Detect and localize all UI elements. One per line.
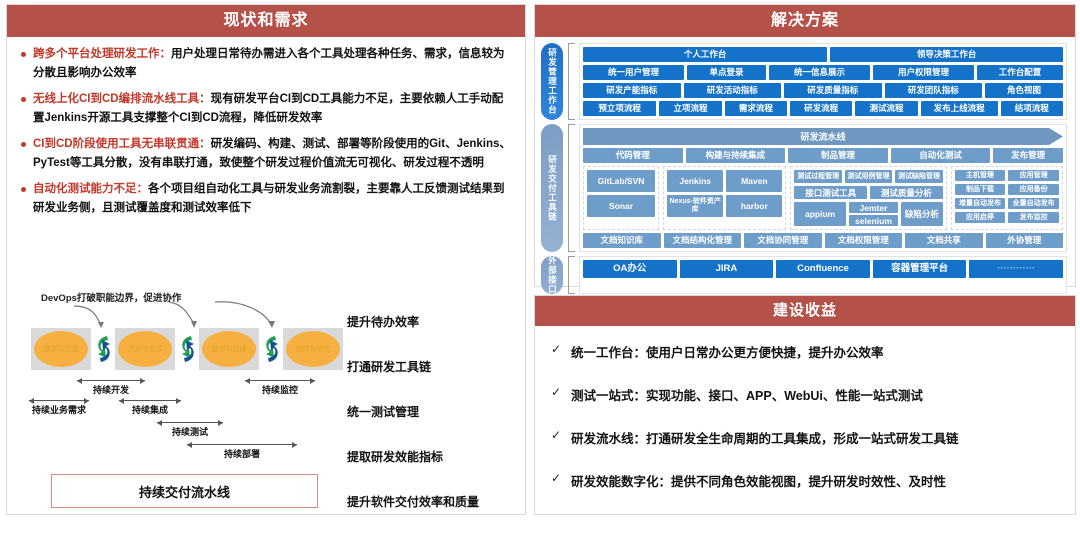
benefit-text: 统一工作台：使用户日常办公更方便快捷，提升办公效率	[571, 346, 884, 360]
tool-column-code: GitLab/SVN Sonar	[583, 166, 659, 230]
cell-item[interactable]: 需求流程	[725, 101, 787, 116]
cell-item[interactable]: 研发团队指标	[885, 83, 983, 98]
tool-test-defect-mgmt[interactable]: 测试缺陷管理	[895, 170, 942, 183]
tool-row: 增量自动发布 全量自动发布	[955, 198, 1059, 209]
list-item: ✓ 统一工作台：使用户日常办公更方便快捷，提升办公效率	[549, 342, 1061, 361]
tool-row: Nexus-软件资产库 harbor	[667, 195, 782, 217]
tool-app-backup[interactable]: 应用备份	[1008, 184, 1059, 195]
cell-item[interactable]: 发布上线流程	[921, 101, 998, 116]
solution-panel: 解决方案 研发管理工作台 个人工作台 领导决策工作台 统一用户管理 单点登录 统…	[534, 4, 1076, 287]
tool-column-test: 测试过程管理 测试用例管理 测试缺陷管理 接口测试工具 测试质量分析 appiu…	[790, 166, 946, 230]
pipeline-arrow-band: 研发流水线	[583, 128, 1063, 145]
lane-tag-label: 研发交付工具链	[541, 124, 563, 252]
external-more[interactable]: ············	[969, 260, 1063, 278]
tool-jemter[interactable]: Jemter	[849, 202, 898, 213]
bullet-highlight: 无线上化CI到CD编排流水线工具：	[33, 93, 211, 105]
tool-row: appium Jemter selenium 缺陷分析	[794, 202, 942, 226]
tool-appium[interactable]: appium	[794, 202, 845, 226]
tool-column-build: Jenkins Maven Nexus-软件资产库 harbor	[663, 166, 786, 230]
phase-cell[interactable]: 构建与持续集成	[686, 148, 786, 163]
tool-nexus[interactable]: Nexus-软件资产库	[667, 195, 723, 217]
sync-swirl-icon	[93, 334, 115, 364]
lane-bracket	[568, 124, 575, 252]
bar-arrow-line	[187, 444, 297, 445]
tool-row: 制品下载 应用备份	[955, 184, 1059, 195]
stage-label: 需求与原度	[34, 331, 88, 367]
bar-label: 持续测试	[157, 425, 223, 438]
lane-workbench: 研发管理工作台 个人工作台 领导决策工作台 统一用户管理 单点登录 统一信息展示…	[541, 43, 1067, 120]
check-icon: ✓	[551, 342, 561, 356]
cell-item[interactable]: 工作台配置	[977, 65, 1063, 80]
tool-app-mgmt[interactable]: 应用管理	[1008, 170, 1059, 181]
cell-personal-workbench[interactable]: 个人工作台	[583, 47, 827, 62]
doc-cell[interactable]: 外协管理	[986, 233, 1064, 248]
phase-cell[interactable]: 自动化测试	[891, 148, 991, 163]
pipeline-label-box: 持续交付流水线	[51, 474, 318, 508]
bullet-highlight: 跨多个平台处理研发工作：	[33, 48, 171, 60]
tool-row: 应用启停 发布监控	[955, 212, 1059, 223]
phase-cell[interactable]: 代码管理	[583, 148, 683, 163]
list-item: CI到CD阶段使用工具无串联贯通：研发编码、构建、测试、部署等阶段使用的Git、…	[19, 135, 513, 173]
external-confluence[interactable]: Confluence	[776, 260, 870, 278]
doc-cell[interactable]: 文档共享	[905, 233, 983, 248]
list-item: 打通研发工具链	[347, 358, 527, 375]
stage-label: 监控与优化	[286, 331, 340, 367]
current-status-panel: 现状和需求 跨多个平台处理研发工作：用户处理日常待办需进入各个工具处理各种任务、…	[6, 4, 526, 515]
tool-gitlab-svn[interactable]: GitLab/SVN	[587, 170, 655, 192]
tool-subcolumn: Jemter selenium	[849, 202, 898, 226]
tool-selenium[interactable]: selenium	[849, 215, 898, 226]
stage-box: 监控与优化	[283, 328, 343, 370]
bar-label: 持续开发	[77, 383, 145, 396]
external-container-platform[interactable]: 容器管理平台	[873, 260, 967, 278]
doc-cell[interactable]: 文档权限管理	[825, 233, 903, 248]
bar-arrow-line	[77, 380, 145, 381]
cell-item[interactable]: 研发产能指标	[583, 83, 681, 98]
sync-swirl-icon	[177, 334, 199, 364]
tool-api-test[interactable]: 接口测试工具	[794, 186, 867, 199]
cell-item[interactable]: 研发流程	[790, 101, 852, 116]
tool-test-quality-analysis[interactable]: 测试质量分析	[870, 186, 943, 199]
lane-external: 外部接口 OA办公 JIRA Confluence 容器管理平台 ·······…	[541, 256, 1067, 294]
tool-sonar[interactable]: Sonar	[587, 195, 655, 217]
flow-bar: 持续部署	[187, 440, 297, 462]
tool-row: Jenkins Maven	[667, 170, 782, 192]
bar-arrow-line	[119, 400, 181, 401]
tool-full-auto-release[interactable]: 全量自动发布	[1008, 198, 1059, 209]
bullet-dot-icon	[21, 52, 26, 57]
list-item: ✓ 研发效能数字化：提供不同角色效能视图，提升研发时效性、及时性	[549, 471, 1061, 490]
cell-item[interactable]: 角色视图	[985, 83, 1063, 98]
bar-arrow-line	[157, 422, 223, 423]
flow-bar: 持续开发	[77, 376, 145, 398]
bar-label: 持续集成	[119, 403, 181, 416]
doc-cell[interactable]: 文档结构化管理	[664, 233, 742, 248]
lane-toolchain: 研发交付工具链 研发流水线 代码管理 构建与持续集成 制品管理 自动化测试 发布…	[541, 124, 1067, 252]
table-row: 代码管理 构建与持续集成 制品管理 自动化测试 发布管理	[583, 148, 1063, 163]
cell-leader-workbench[interactable]: 领导决策工作台	[830, 47, 1063, 62]
lane-tag-label: 研发管理工作台	[541, 43, 563, 120]
tool-test-process-mgmt[interactable]: 测试过程管理	[794, 170, 841, 183]
stage-box: 发布与运维	[199, 328, 259, 370]
benefits-list: ✓ 统一工作台：使用户日常办公更方便快捷，提升办公效率 ✓ 测试一站式：实现功能…	[535, 326, 1075, 490]
list-item: 自动化测试能力不足：各个项目组自动化工具与研发业务流割裂，主要靠人工反馈测试结果…	[19, 180, 513, 218]
tool-maven[interactable]: Maven	[726, 170, 782, 192]
list-item: 提取研发效能指标	[347, 448, 527, 465]
left-panel-title: 现状和需求	[7, 5, 525, 37]
cell-item[interactable]: 统一用户管理	[583, 65, 684, 80]
bar-arrow-line	[29, 400, 89, 401]
bullet-list: 跨多个平台处理研发工作：用户处理日常待办需进入各个工具处理各种任务、需求，信息较…	[7, 37, 525, 218]
flow-bar: 持续集成	[119, 396, 181, 418]
cell-item[interactable]: 立项流程	[659, 101, 721, 116]
lane-tag-label: 外部接口	[541, 256, 563, 294]
cell-item[interactable]: 测试流程	[855, 101, 917, 116]
tool-test-case-mgmt[interactable]: 测试用例管理	[845, 170, 892, 183]
solution-architecture-diagram: 研发管理工作台 个人工作台 领导决策工作台 统一用户管理 单点登录 统一信息展示…	[535, 37, 1075, 280]
stage-box: 开发与测试	[115, 328, 175, 370]
phase-cell[interactable]: 制品管理	[788, 148, 888, 163]
list-item: ✓ 研发流水线：打通研发全生命周期的工具集成，形成一站式研发工具链	[549, 428, 1061, 447]
tool-incremental-auto-release[interactable]: 增量自动发布	[955, 198, 1006, 209]
cell-item[interactable]: 用户权限管理	[873, 65, 974, 80]
list-item: 跨多个平台处理研发工作：用户处理日常待办需进入各个工具处理各种任务、需求，信息较…	[19, 45, 513, 83]
cell-item[interactable]: 预立项流程	[583, 101, 656, 116]
tool-app-start-stop[interactable]: 应用启停	[955, 212, 1006, 223]
tool-defect-analysis[interactable]: 缺陷分析	[901, 202, 943, 226]
bullet-highlight: CI到CD阶段使用工具无串联贯通：	[33, 138, 211, 150]
solution-panel-title: 解决方案	[535, 5, 1075, 37]
benefit-text: 研发效能数字化：提供不同角色效能视图，提升研发时效性、及时性	[571, 475, 946, 489]
list-item: 统一测试管理	[347, 403, 527, 420]
lane-content: 研发流水线 代码管理 构建与持续集成 制品管理 自动化测试 发布管理 GitLa…	[579, 124, 1067, 252]
table-row: 文档知识库 文档结构化管理 文档协同管理 文档权限管理 文档共享 外协管理	[583, 233, 1063, 248]
tool-grid: GitLab/SVN Sonar Jenkins Maven Nexus-软件资…	[583, 166, 1063, 230]
lane-bracket	[568, 43, 575, 120]
stage-label: 发布与运维	[202, 331, 256, 367]
tool-harbor[interactable]: harbor	[726, 195, 782, 217]
table-row: 研发产能指标 研发活动指标 研发质量指标 研发团队指标 角色视图	[583, 83, 1063, 98]
tool-release-monitor[interactable]: 发布监控	[1008, 212, 1059, 223]
tool-row: 主机管理 应用管理	[955, 170, 1059, 181]
bar-label: 持续监控	[245, 383, 315, 396]
external-jira[interactable]: JIRA	[680, 260, 774, 278]
list-item: 提升软件交付效率和质量	[347, 493, 527, 510]
tool-column-release: 主机管理 应用管理 制品下载 应用备份 增量自动发布 全量自动发布 应用启停	[951, 166, 1063, 230]
cell-item[interactable]: 研发活动指标	[684, 83, 782, 98]
bar-label: 持续业务需求	[29, 403, 89, 416]
stage-box: 需求与原度	[31, 328, 91, 370]
left-benefit-list: 提升待办效率 打通研发工具链 统一测试管理 提取研发效能指标 提升软件交付效率和…	[347, 313, 527, 538]
external-oa[interactable]: OA办公	[583, 260, 677, 278]
devops-stage-row: 需求与原度 开发与测试 发布与运维 监控与优化	[31, 328, 343, 370]
tool-row: 接口测试工具 测试质量分析	[794, 186, 942, 199]
list-item: 提升待办效率	[347, 313, 527, 330]
benefits-panel: 建设收益 ✓ 统一工作台：使用户日常办公更方便快捷，提升办公效率 ✓ 测试一站式…	[534, 295, 1076, 515]
check-icon: ✓	[551, 385, 561, 399]
tool-host-mgmt[interactable]: 主机管理	[955, 170, 1006, 181]
check-icon: ✓	[551, 428, 561, 442]
bar-arrow-line	[245, 380, 315, 381]
flow-bar: 持续业务需求	[29, 396, 89, 418]
flow-bar: 持续测试	[157, 418, 223, 440]
cell-item[interactable]: 结项流程	[1001, 101, 1063, 116]
doc-cell[interactable]: 文档协同管理	[744, 233, 822, 248]
benefit-text: 测试一站式：实现功能、接口、APP、WebUi、性能一站式测试	[571, 389, 923, 403]
benefit-text: 研发流水线：打通研发全生命周期的工具集成，形成一站式研发工具链	[571, 432, 959, 446]
tool-jenkins[interactable]: Jenkins	[667, 170, 723, 192]
flow-bar: 持续监控	[245, 376, 315, 398]
benefits-panel-title: 建设收益	[535, 296, 1075, 326]
table-row: 个人工作台 领导决策工作台	[583, 47, 1063, 62]
bullet-dot-icon	[21, 187, 26, 192]
table-row: 统一用户管理 单点登录 统一信息展示 用户权限管理 工作台配置	[583, 65, 1063, 80]
doc-cell[interactable]: 文档知识库	[583, 233, 661, 248]
table-row: 预立项流程 立项流程 需求流程 研发流程 测试流程 发布上线流程 结项流程	[583, 101, 1063, 116]
devops-flow-diagram: DevOps打破职能边界，促进协作 需求与原度 开发与测试	[19, 288, 349, 516]
lane-content: 个人工作台 领导决策工作台 统一用户管理 单点登录 统一信息展示 用户权限管理 …	[579, 43, 1067, 120]
table-row: OA办公 JIRA Confluence 容器管理平台 ············	[583, 260, 1063, 278]
sync-swirl-icon	[261, 334, 283, 364]
lane-content: OA办公 JIRA Confluence 容器管理平台 ············	[579, 256, 1067, 294]
bullet-dot-icon	[21, 97, 26, 102]
check-icon: ✓	[551, 471, 561, 485]
phase-cell[interactable]: 发布管理	[993, 148, 1063, 163]
list-item: ✓ 测试一站式：实现功能、接口、APP、WebUi、性能一站式测试	[549, 385, 1061, 404]
bullet-highlight: 自动化测试能力不足：	[33, 183, 148, 195]
tool-artifact-download[interactable]: 制品下载	[955, 184, 1006, 195]
bullet-dot-icon	[21, 142, 26, 147]
bar-label: 持续部署	[187, 447, 297, 460]
cell-item[interactable]: 统一信息展示	[769, 65, 870, 80]
cell-item[interactable]: 研发质量指标	[784, 83, 882, 98]
stage-label: 开发与测试	[118, 331, 172, 367]
list-item: 无线上化CI到CD编排流水线工具：现有研发平台CI到CD工具能力不足，主要依赖人…	[19, 90, 513, 128]
lane-bracket	[568, 256, 575, 294]
tool-row: 测试过程管理 测试用例管理 测试缺陷管理	[794, 170, 942, 183]
cell-item[interactable]: 单点登录	[687, 65, 766, 80]
